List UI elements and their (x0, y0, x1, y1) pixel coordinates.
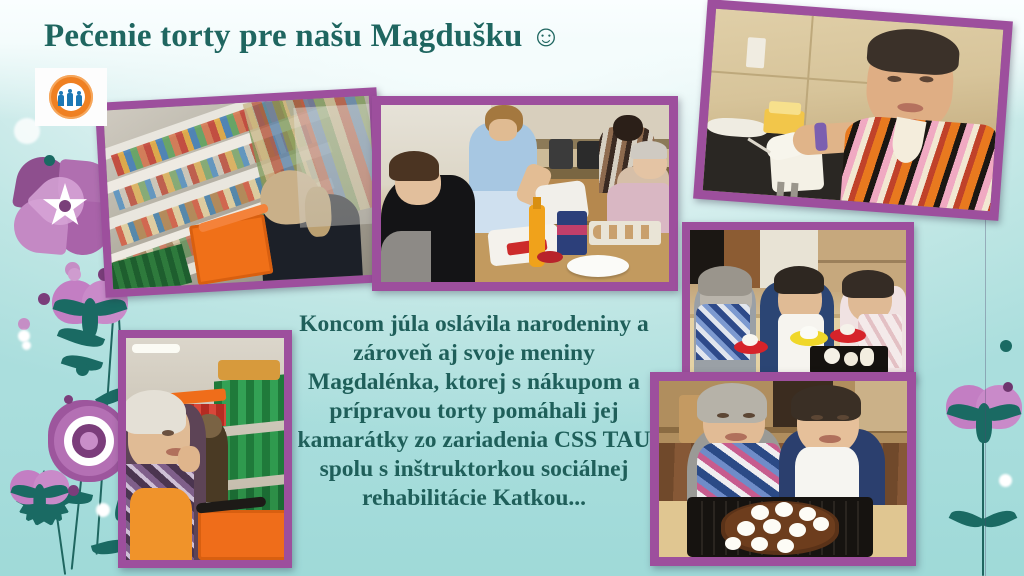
photo-kitchen-prep[interactable] (372, 96, 678, 291)
sparkle-dot (18, 330, 30, 342)
smiley-icon: ☺ (531, 20, 562, 53)
leaf (949, 505, 986, 532)
slide-canvas: Pečenie torty pre našu Magdušku☺ (0, 0, 1024, 576)
flower-stem (56, 515, 66, 575)
sparkle-dot (999, 474, 1012, 487)
accent-dot (1000, 340, 1012, 352)
leaf (981, 505, 1018, 532)
photo-cake-finished[interactable] (650, 372, 916, 566)
photo-shop-produce[interactable] (118, 330, 292, 568)
sparkle-dot (96, 503, 110, 517)
photo-decorating[interactable] (682, 222, 914, 382)
accent-dot (38, 293, 50, 305)
accent-dot (18, 318, 30, 330)
logo-ring (49, 75, 93, 119)
organization-logo (35, 68, 107, 126)
logo-people-icon (58, 90, 84, 106)
accent-dot (76, 363, 89, 376)
page-title-text: Pečenie torty pre našu Magdušku (44, 18, 523, 54)
accent-dot (64, 395, 73, 404)
page-title: Pečenie torty pre našu Magdušku☺ (44, 18, 561, 55)
photo-shop-shelves[interactable] (95, 87, 387, 297)
accent-dot (68, 485, 79, 496)
photo-mixer[interactable] (693, 0, 1013, 221)
sparkle-dot (22, 341, 31, 350)
body-paragraph: Koncom júla oslávila narodeniny a zárove… (288, 310, 660, 513)
flower-tulip-bottom (10, 470, 55, 503)
flower-stem (982, 420, 984, 576)
accent-dot (1003, 382, 1013, 392)
accent-dot (44, 155, 55, 166)
accent-dot (68, 268, 81, 281)
